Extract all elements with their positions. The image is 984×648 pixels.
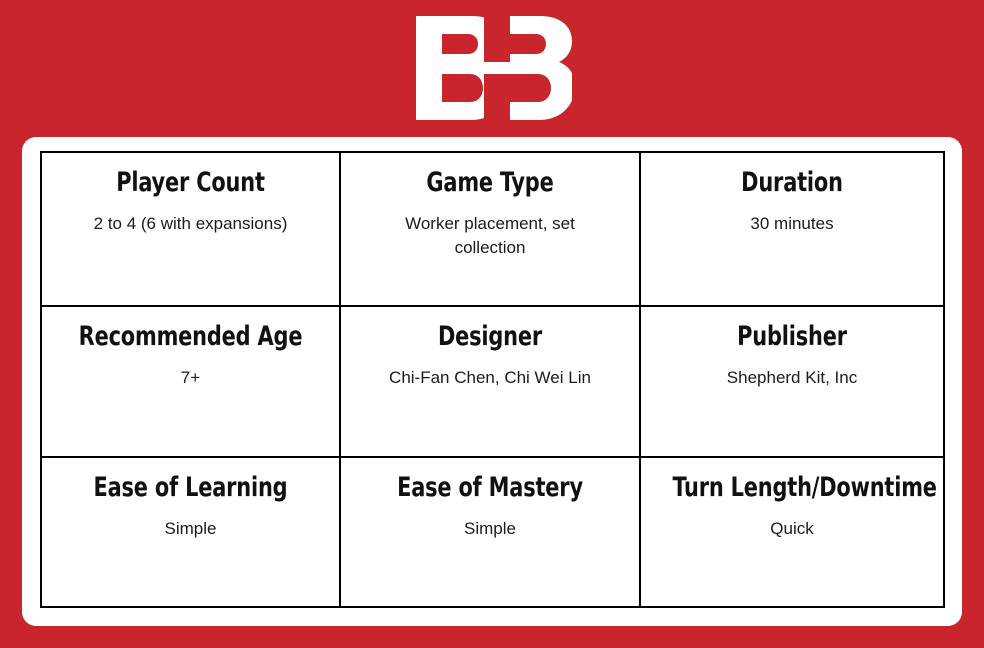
cell-value: Shepherd Kit, Inc bbox=[653, 366, 931, 391]
cell-value: 2 to 4 (6 with expansions) bbox=[54, 212, 327, 237]
cell-title: Ease of Mastery bbox=[372, 474, 608, 503]
cell-value: Quick bbox=[653, 517, 931, 542]
cell-turn-length-downtime: Turn Length/Downtime Quick bbox=[640, 457, 944, 607]
cell-value: Simple bbox=[54, 517, 327, 542]
table-row: Ease of Learning Simple Ease of Mastery … bbox=[41, 457, 944, 607]
cell-title: Game Type bbox=[372, 169, 608, 198]
game-info-table: Player Count 2 to 4 (6 with expansions) … bbox=[40, 151, 945, 608]
cell-game-type: Game Type Worker placement, set collecti… bbox=[340, 152, 640, 306]
cell-title: Ease of Learning bbox=[73, 474, 308, 503]
page-root: Player Count 2 to 4 (6 with expansions) … bbox=[0, 0, 984, 648]
cell-title: Publisher bbox=[672, 323, 911, 352]
cell-ease-of-learning: Ease of Learning Simple bbox=[41, 457, 340, 607]
logo-container bbox=[0, 0, 984, 137]
cell-value: Simple bbox=[353, 517, 627, 542]
table-row: Recommended Age 7+ Designer Chi-Fan Chen… bbox=[41, 306, 944, 457]
cell-ease-of-mastery: Ease of Mastery Simple bbox=[340, 457, 640, 607]
cell-title: Player Count bbox=[73, 169, 308, 198]
cell-value: Worker placement, set collection bbox=[353, 212, 627, 261]
cell-value: Chi-Fan Chen, Chi Wei Lin bbox=[353, 366, 627, 391]
cell-title: Recommended Age bbox=[73, 323, 308, 352]
table-row: Player Count 2 to 4 (6 with expansions) … bbox=[41, 152, 944, 306]
cell-title: Duration bbox=[672, 169, 911, 198]
cell-publisher: Publisher Shepherd Kit, Inc bbox=[640, 306, 944, 457]
cell-title: Designer bbox=[372, 323, 608, 352]
cell-title: Turn Length/Downtime bbox=[672, 474, 911, 503]
cell-value: 7+ bbox=[54, 366, 327, 391]
cell-player-count: Player Count 2 to 4 (6 with expansions) bbox=[41, 152, 340, 306]
cell-designer: Designer Chi-Fan Chen, Chi Wei Lin bbox=[340, 306, 640, 457]
cell-value: 30 minutes bbox=[653, 212, 931, 237]
cell-recommended-age: Recommended Age 7+ bbox=[41, 306, 340, 457]
b3-logo-icon bbox=[412, 14, 572, 124]
cell-duration: Duration 30 minutes bbox=[640, 152, 944, 306]
